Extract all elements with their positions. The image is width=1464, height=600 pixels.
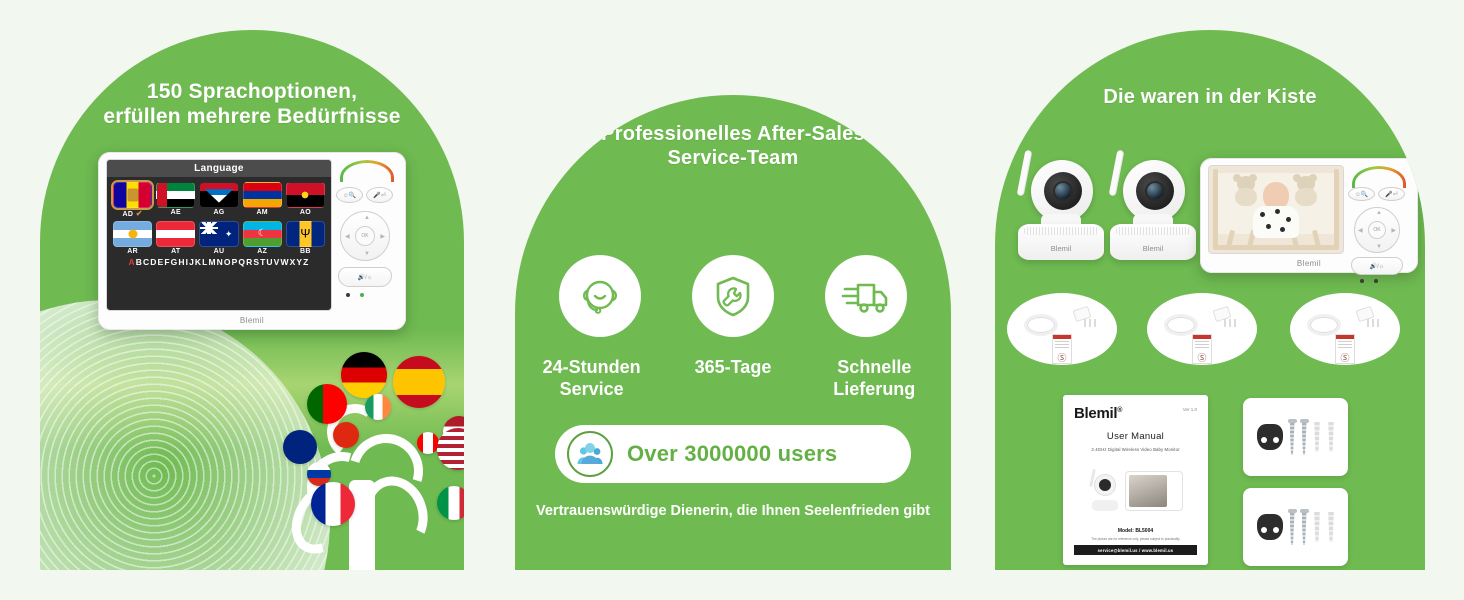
camera-lens (1053, 181, 1073, 201)
registered-mark-icon: ® (1117, 407, 1122, 414)
shield-wrench-icon-circle (692, 255, 774, 337)
fast-truck-icon-circle (825, 255, 907, 337)
flag-at-icon (156, 221, 195, 247)
language-code-label: AG (199, 209, 238, 216)
language-code-label: BB (286, 248, 325, 255)
pattern-dot (1260, 212, 1265, 217)
alphabet-letter-u[interactable]: U (266, 257, 273, 267)
panel2-title-line1: Professionelles After-Sales (515, 123, 951, 147)
language-flag-bb[interactable]: BB (286, 221, 325, 255)
camera-lens-ring (1136, 172, 1174, 210)
manual-monitor-controls (1167, 475, 1179, 507)
camera-unit-1: Blemil (1015, 150, 1107, 260)
camera-lens (1145, 181, 1165, 201)
flag-ae-icon (156, 182, 195, 208)
adapter-pins (1084, 319, 1096, 327)
panel2-footer-text: Vertrauenswürdige Dienerin, die Ihnen Se… (515, 503, 951, 519)
flag-ao-icon (286, 182, 325, 208)
manual-monitor-illustration (1125, 471, 1183, 511)
manual-cover-illustration (1074, 456, 1197, 526)
language-flag-grid[interactable]: AD ✔AEAGAMAOARATAUAZBB (107, 177, 331, 255)
manual-camera-base (1092, 500, 1118, 511)
adapter-cable-coil (1164, 314, 1198, 336)
baby-monitor-device: ☺🔍 🎤⏎ ▲ ▼ ◀ ▶ OK 🔊/☼ Blem (1200, 158, 1418, 273)
panel-language-options: 150 Sprachoptionen, erfüllen mehrere Bed… (40, 30, 464, 570)
flag-france-icon (311, 482, 355, 526)
screw-head (1288, 419, 1297, 423)
no-strangle-warning-icon: Ⓢ (1193, 351, 1211, 364)
wall-anchor-icon (1328, 422, 1335, 452)
panel-after-sales-service: Professionelles After-Sales Service-Team (515, 95, 951, 570)
alphabet-letter-w[interactable]: W (280, 257, 289, 267)
flag-am-icon (243, 182, 282, 208)
alphabet-letter-g[interactable]: G (171, 257, 179, 267)
camera-head (1031, 160, 1093, 222)
panel1-title-line1: 150 Sprachoptionen, (40, 80, 464, 105)
teddy-body (1235, 188, 1257, 206)
dpad-navigation[interactable]: ▲ ▼ ◀ ▶ OK (340, 211, 390, 261)
language-tree-graphic (265, 360, 464, 570)
headset-icon-circle (559, 255, 641, 337)
language-code-label: AD ✔ (113, 209, 152, 218)
camera-vents (1116, 227, 1190, 235)
manual-camera-lens (1099, 479, 1111, 491)
adapter-cable-coil (1307, 314, 1341, 336)
manual-subtitle: 2.4GHz Digital Wireless Video Baby Monit… (1074, 447, 1197, 452)
tag-header-bar (1336, 335, 1354, 339)
tag-header-bar (1053, 335, 1071, 339)
alphabet-letter-x[interactable]: X (290, 257, 297, 267)
camera-switch-button[interactable]: ☺🔍 (336, 187, 363, 203)
volume-brightness-button[interactable]: 🔊/☼ (1351, 257, 1403, 275)
adapter-pins (1367, 319, 1379, 327)
alphabet-letter-y[interactable]: Y (296, 257, 303, 267)
alphabet-letter-m[interactable]: M (208, 257, 216, 267)
feature-label-line2: Lieferung (809, 379, 939, 401)
teddy-bear-left (1233, 176, 1259, 206)
tag-line (1055, 347, 1069, 348)
feature-label-line2: Service (527, 379, 657, 401)
led-indicators (346, 293, 364, 297)
users-icon (576, 441, 604, 467)
language-flag-at[interactable]: AT (156, 221, 195, 255)
alphabet-letter-b[interactable]: B (136, 257, 143, 267)
adapter-circle-2: Ⓢ (1147, 293, 1257, 365)
manual-contact-bar: service@blemil.us / www.blemil.us (1074, 545, 1197, 555)
language-code-label: AE (156, 209, 195, 216)
talk-back-button[interactable]: 🎤⏎ (1378, 187, 1405, 201)
manual-brand-name: Blemil (1074, 405, 1117, 422)
feature-label-3: SchnelleLieferung (809, 357, 939, 400)
screw-body (1290, 423, 1295, 455)
panel1-title: 150 Sprachoptionen, erfüllen mehrere Bed… (40, 80, 464, 130)
adapter-warning-tag: Ⓢ (1192, 334, 1212, 364)
monitor-screen-language: Language AD ✔AEAGAMAOARATAUAZBB ABCDEFGH… (106, 159, 332, 311)
language-flag-ad[interactable]: AD ✔ (113, 182, 152, 218)
led-power (1360, 279, 1364, 283)
screw-head (1288, 509, 1297, 513)
feature-label-line1: 365-Tage (668, 357, 798, 379)
selected-check-icon: ✔ (133, 209, 143, 218)
tag-line (1338, 344, 1352, 345)
monitor-control-panel[interactable]: ☺🔍 🎤⏎ ▲ ▼ ◀ ▶ OK 🔊/☼ (1344, 165, 1410, 254)
headset-icon (576, 272, 624, 320)
language-flag-az[interactable]: AZ (243, 221, 282, 255)
camera-head (1123, 160, 1185, 222)
screw-icon (1302, 509, 1307, 545)
alphabet-letter-c[interactable]: C (143, 257, 150, 267)
flag-az-icon (243, 221, 282, 247)
feature-label-line1: Schnelle (809, 357, 939, 379)
power-adapter-icon: Ⓢ (1024, 306, 1100, 352)
camera-brand-label: Blemil (1018, 244, 1104, 253)
dpad-navigation[interactable]: ▲ ▼ ◀ ▶ OK (1354, 207, 1400, 253)
alphabet-letter-a[interactable]: A (129, 257, 136, 267)
flag-portugal-icon (307, 384, 347, 424)
language-flag-ae[interactable]: AE (156, 182, 195, 218)
tag-header-bar (1193, 335, 1211, 339)
feature-label-2: 365-Tage (668, 357, 798, 400)
flag-ag-icon (199, 182, 238, 208)
camera-brand-label: Blemil (1110, 244, 1196, 253)
dpad-down-icon[interactable]: ▼ (364, 251, 370, 257)
tag-line (1055, 344, 1069, 345)
wall-anchor-icon (1314, 512, 1321, 542)
alphabet-letter-r[interactable]: R (246, 257, 253, 267)
no-strangle-warning-icon: Ⓢ (1336, 351, 1354, 364)
power-adapter-icon: Ⓢ (1164, 306, 1240, 352)
flag-au-icon (199, 221, 238, 247)
screw-body (1302, 423, 1307, 455)
language-code-label: AT (156, 248, 195, 255)
flag-canada-icon (417, 432, 439, 454)
status-arc-indicator (1352, 166, 1406, 188)
alphabet-letter-o[interactable]: O (224, 257, 232, 267)
alphabet-letter-q[interactable]: Q (238, 257, 246, 267)
camera-base: Blemil (1018, 224, 1104, 260)
baby-monitor-language-device: Language AD ✔AEAGAMAOARATAUAZBB ABCDEFGH… (98, 152, 406, 330)
alphabet-letter-n[interactable]: N (217, 257, 224, 267)
language-flag-am[interactable]: AM (243, 182, 282, 218)
camera-switch-button[interactable]: ☺🔍 (1348, 187, 1375, 201)
manual-version: Ver 1.0 (1183, 407, 1197, 412)
dpad-right-icon[interactable]: ▶ (1391, 227, 1396, 234)
screw-icon (1290, 509, 1295, 545)
language-code-label: AM (243, 209, 282, 216)
panel-box-contents: Die waren in der Kiste Blemil (995, 30, 1425, 570)
baby-body (1253, 206, 1299, 238)
flag-china-icon (333, 422, 359, 448)
tag-line (1055, 341, 1069, 342)
language-code-label: AZ (243, 248, 282, 255)
user-manual-booklet: Ver 1.0 Blemil® User Manual 2.4GHz Digit… (1063, 395, 1208, 565)
camera-base: Blemil (1110, 224, 1196, 260)
dpad-ok-button[interactable]: OK (355, 226, 375, 246)
manual-monitor-screen (1129, 475, 1167, 507)
crib-bar (1334, 169, 1339, 249)
language-code-label: AO (286, 209, 325, 216)
panel2-title: Professionelles After-Sales Service-Team (515, 123, 951, 170)
dpad-down-icon[interactable]: ▼ (1376, 244, 1382, 250)
monitor-control-panel[interactable]: ☺🔍 🎤⏎ ▲ ▼ ◀ ▶ OK 🔊/☼ (332, 159, 398, 311)
screw-head (1300, 419, 1309, 423)
screw-body (1302, 513, 1307, 545)
alphabet-letter-p[interactable]: P (232, 257, 239, 267)
shield-wrench-icon (709, 272, 757, 320)
led-indicators (1360, 279, 1378, 283)
camera-lens-ring (1044, 172, 1082, 210)
camera-unit-2: Blemil (1107, 150, 1199, 260)
wall-bracket-icon (1257, 424, 1283, 450)
alphabet-letter-k[interactable]: K (195, 257, 202, 267)
pattern-dot (1286, 217, 1291, 222)
flag-uk-icon (283, 430, 317, 464)
feature-label-row: 24-StundenService365-TageSchnelleLieferu… (515, 357, 951, 400)
fast-truck-icon (841, 272, 891, 320)
manual-title: User Manual (1074, 431, 1197, 442)
tag-line (1195, 347, 1209, 348)
led-power (346, 293, 350, 297)
manual-brand: Blemil® (1074, 405, 1197, 422)
screw-body (1290, 513, 1295, 545)
no-strangle-warning-icon: Ⓢ (1053, 351, 1071, 364)
users-count-text: Over 3000000 users (627, 441, 837, 467)
alphabet-index-strip[interactable]: ABCDEFGHIJKLMNOPQRSTUVWXYZ (107, 257, 331, 267)
adapter-warning-tag: Ⓢ (1335, 334, 1355, 364)
flag-italy-icon (437, 486, 464, 520)
language-code-label: AU (199, 248, 238, 255)
wall-anchor-icon (1328, 512, 1335, 542)
language-code-label: AR (113, 248, 152, 255)
dpad-ok-button[interactable]: OK (1368, 221, 1386, 239)
tag-line (1338, 341, 1352, 342)
alphabet-letter-z[interactable]: Z (303, 257, 309, 267)
wall-mount-kit-1 (1243, 398, 1348, 476)
manual-model-number: Model: BL5004 (1074, 528, 1197, 534)
screw-head (1300, 509, 1309, 513)
flag-bb-icon (286, 221, 325, 247)
led-status (1374, 279, 1378, 283)
adapter-pins (1224, 319, 1236, 327)
dpad-up-icon[interactable]: ▲ (364, 215, 370, 221)
monitor-screen-baby-view (1208, 165, 1344, 254)
flag-ar-icon (113, 221, 152, 247)
status-arc-indicator (340, 160, 394, 182)
language-flag-ag[interactable]: AG (199, 182, 238, 218)
users-icon-circle (567, 431, 613, 477)
panel1-title-line2: erfüllen mehrere Bedürfnisse (40, 105, 464, 130)
alphabet-letter-d[interactable]: D (150, 257, 157, 267)
teddy-body (1295, 188, 1317, 206)
flag-spain-icon (393, 356, 445, 408)
adapter-circle-1: Ⓢ (1007, 293, 1117, 365)
manual-camera-illustration (1089, 469, 1121, 513)
screw-icon (1290, 419, 1295, 455)
alphabet-letter-v[interactable]: V (274, 257, 281, 267)
alphabet-letter-h[interactable]: H (178, 257, 185, 267)
manual-disclaimer: The picture are for reference only, plea… (1074, 537, 1197, 541)
device-brand-label: Blemil (98, 313, 406, 330)
led-status (360, 293, 364, 297)
users-count-pill: Over 3000000 users (555, 425, 911, 483)
teddy-bear-right (1293, 176, 1319, 206)
pattern-dot (1275, 209, 1280, 214)
dpad-up-icon[interactable]: ▲ (1376, 210, 1382, 216)
feature-icon-row (515, 255, 951, 337)
wall-mount-kit-2 (1243, 488, 1348, 566)
camera-antenna (1017, 150, 1033, 196)
panel3-title: Die waren in der Kiste (995, 86, 1425, 110)
tag-line (1338, 347, 1352, 348)
wall-bracket-icon (1257, 514, 1283, 540)
volume-brightness-button[interactable]: 🔊/☼ (338, 267, 392, 287)
dpad-left-icon[interactable]: ◀ (1358, 227, 1363, 234)
adapter-cable-coil (1024, 314, 1058, 336)
crib-scene (1209, 166, 1343, 253)
power-adapter-icon: Ⓢ (1307, 306, 1383, 352)
product-infographic: 150 Sprachoptionen, erfüllen mehrere Bed… (0, 0, 1464, 600)
feature-label-1: 24-StundenService (527, 357, 657, 400)
dpad-right-icon[interactable]: ▶ (380, 233, 385, 240)
camera-vents (1024, 227, 1098, 235)
flag-ireland-icon (365, 394, 391, 420)
alphabet-letter-e[interactable]: E (158, 257, 165, 267)
pattern-dot (1266, 224, 1271, 229)
panel2-title-line2: Service-Team (515, 147, 951, 171)
language-flag-ao[interactable]: AO (286, 182, 325, 218)
tag-line (1195, 341, 1209, 342)
language-screen-header: Language (107, 160, 331, 177)
flag-ad-icon (113, 182, 152, 208)
camera-antenna (1109, 150, 1125, 196)
flag-usa-icon (437, 428, 464, 470)
alphabet-letter-s[interactable]: S (253, 257, 260, 267)
manual-camera-head (1094, 474, 1116, 496)
language-flag-au[interactable]: AU (199, 221, 238, 255)
dpad-left-icon[interactable]: ◀ (345, 233, 350, 240)
talk-back-button[interactable]: 🎤⏎ (366, 187, 393, 203)
crib-bar (1213, 169, 1218, 249)
feature-label-line1: 24-Stunden (527, 357, 657, 379)
screw-icon (1302, 419, 1307, 455)
language-flag-ar[interactable]: AR (113, 221, 152, 255)
tag-line (1195, 344, 1209, 345)
pattern-dot (1280, 227, 1285, 232)
adapter-circle-3: Ⓢ (1290, 293, 1400, 365)
wall-anchor-icon (1314, 422, 1321, 452)
adapter-warning-tag: Ⓢ (1052, 334, 1072, 364)
flag-germany-icon (341, 352, 387, 398)
